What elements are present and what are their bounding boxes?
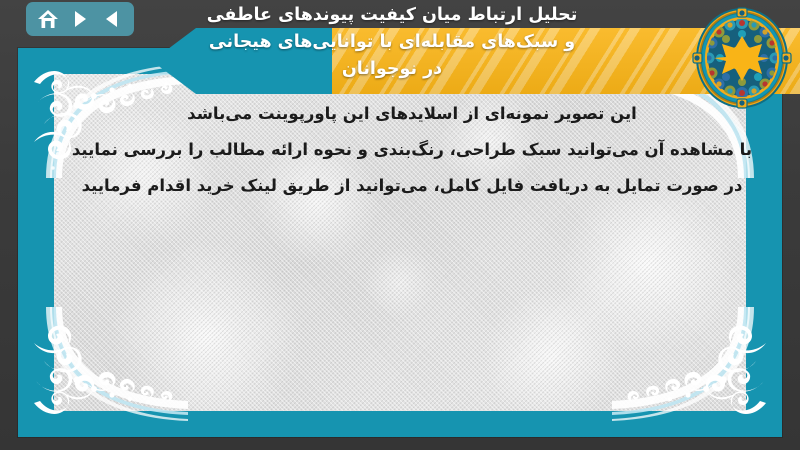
- prev-slide-button[interactable]: [99, 6, 125, 32]
- body-text-line-1: این تصویر نمونه‌ای از اسلایدهای این پاور…: [54, 96, 770, 132]
- home-icon: [37, 8, 59, 30]
- presentation-slide: تحلیل ارتباط میان کیفیت پیوندهای عاطفی و…: [0, 0, 800, 450]
- triangle-right-icon: [71, 9, 89, 29]
- triangle-left-icon: [103, 9, 121, 29]
- body-text-line-3: در صورت تمایل به دریافت فایل کامل، می‌تو…: [54, 168, 770, 204]
- next-slide-button[interactable]: [67, 6, 93, 32]
- slide-title-line-3: در نوجوانان: [92, 56, 692, 83]
- slide-body-text: این تصویر نمونه‌ای از اسلایدهای این پاور…: [54, 96, 770, 204]
- persian-medallion-ornament: [692, 6, 792, 110]
- body-text-line-2: با مشاهده آن می‌توانید سبک طراحی، رنگ‌بن…: [54, 132, 770, 168]
- home-button[interactable]: [35, 6, 61, 32]
- slide-navigation-bar[interactable]: [26, 2, 134, 36]
- slide-title-line-2: و سبک‌های مقابله‌ای با توانایی‌های هیجان…: [92, 29, 692, 56]
- slide-title: تحلیل ارتباط میان کیفیت پیوندهای عاطفی و…: [92, 2, 692, 83]
- slide-title-line-1: تحلیل ارتباط میان کیفیت پیوندهای عاطفی: [92, 2, 692, 29]
